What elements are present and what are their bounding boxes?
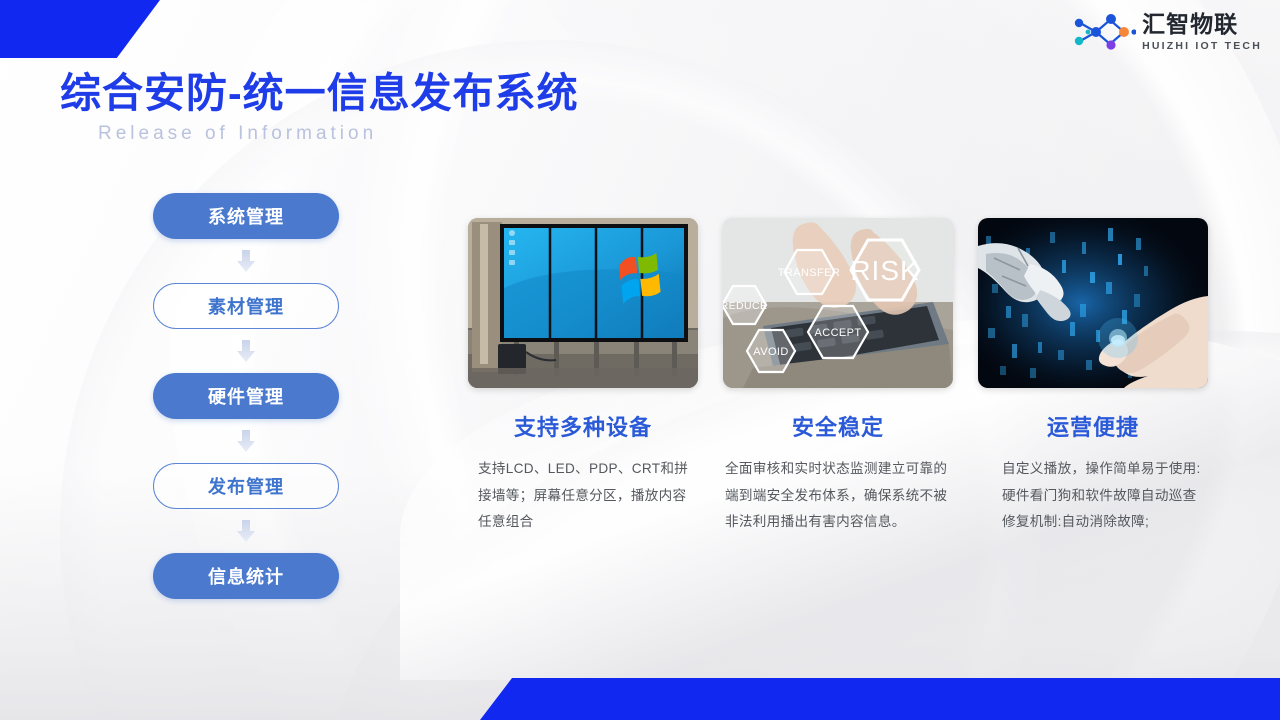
page-title: 综合安防-统一信息发布系统 [60,70,579,117]
flow-item-label: 信息统计 [208,563,284,589]
flow-item-system-management[interactable]: 系统管理 [153,193,339,239]
arrow-down-icon [233,338,259,364]
flow-item-hardware-management[interactable]: 硬件管理 [153,373,339,419]
flow-item-label: 系统管理 [208,203,284,229]
brand-name-cn: 汇智物联 [1142,13,1262,36]
flow-item-label: 素材管理 [208,293,284,319]
svg-text:ACCEPT: ACCEPT [814,327,861,339]
arrow-down-icon [233,248,259,274]
page-title-block: 综合安防-统一信息发布系统 Release of Information [60,70,579,145]
svg-text:AVOID: AVOID [753,346,788,358]
flow-item-label: 硬件管理 [208,383,284,409]
feature-card: 支持多种设备 支持LCD、LED、PDP、CRT和拼接墙等；屏幕任意分区，播放内… [468,218,698,536]
arrow-down-icon [233,518,259,544]
feature-card-body: 全面审核和实时状态监测建立可靠的端到端安全发布体系，确保系统不被非法利用播出有害… [723,456,953,536]
feature-card-title: 安全稳定 [723,410,953,442]
accent-band-top-left [0,0,160,58]
svg-text:TRANSFER: TRANSFER [778,267,840,279]
arrow-down-icon [233,428,259,454]
feature-card: 运营便捷 自定义播放，操作简单易于使用:硬件看门狗和软件故障自动巡查修复机制:自… [978,218,1208,536]
presentation-slide: 汇智物联 HUIZHI IOT TECH 综合安防-统一信息发布系统 Relea… [0,0,1280,720]
brand-name-en: HUIZHI IOT TECH [1142,41,1262,52]
process-flow-list: 系统管理 素材管理 硬件管理 发布管理 [153,193,339,599]
feature-card: RISK TRANSFER REDUCE ACCEPT AVOID 安全稳定 全… [723,218,953,536]
flow-item-publish-management[interactable]: 发布管理 [153,463,339,509]
risk-management-laptop-photo: RISK TRANSFER REDUCE ACCEPT AVOID [723,218,953,388]
svg-text:RISK: RISK [850,255,919,286]
svg-text:REDUCE: REDUCE [723,300,767,312]
accent-band-bottom-right [480,678,1280,720]
feature-card-title: 运营便捷 [978,410,1208,442]
feature-card-list: 支持多种设备 支持LCD、LED、PDP、CRT和拼接墙等；屏幕任意分区，播放内… [468,218,1208,536]
feature-card-body: 支持LCD、LED、PDP、CRT和拼接墙等；屏幕任意分区，播放内容任意组合 [468,456,698,536]
robot-human-hand-data-photo [978,218,1208,388]
molecule-network-icon [1072,12,1136,52]
brand-logo: 汇智物联 HUIZHI IOT TECH [1072,12,1262,52]
page-subtitle: Release of Information [98,123,579,145]
video-wall-display-photo [468,218,698,388]
flow-item-information-statistics[interactable]: 信息统计 [153,553,339,599]
flow-item-label: 发布管理 [208,473,284,499]
flow-item-material-management[interactable]: 素材管理 [153,283,339,329]
feature-card-title: 支持多种设备 [468,410,698,442]
feature-card-body: 自定义播放，操作简单易于使用:硬件看门狗和软件故障自动巡查修复机制:自动消除故障… [978,456,1208,536]
